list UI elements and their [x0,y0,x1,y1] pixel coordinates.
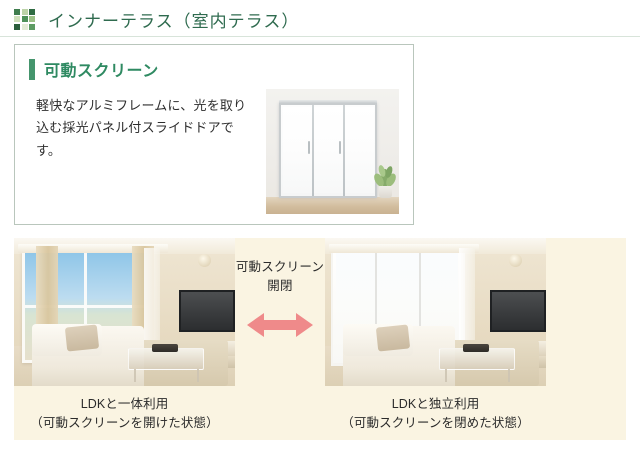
card-heading-text: 可動スクリーン [44,57,159,81]
table-leg-left [445,369,447,382]
curtain-pelmet [329,244,479,253]
table-leg-right [197,369,199,382]
right-caption-line2: （可動スクリーンを閉めた状態） [325,414,546,433]
plant-leaves-icon [374,162,397,188]
sofa-cushion [65,324,99,351]
door-panel-3 [345,107,374,193]
heading-accent-bar [29,59,35,80]
comparison-center: 可動スクリーン 開閉 [235,238,325,386]
ldk-screen-open-photo [14,238,235,386]
door-mullion-1 [312,105,314,196]
table-leg-left [134,369,136,382]
door-handle-2 [339,141,341,154]
header-divider [0,36,640,37]
left-caption-line2: （可動スクリーンを開けた状態） [14,414,235,433]
television [490,290,546,332]
left-caption-line1: LDKと一体利用 [81,397,169,411]
left-caption: LDKと一体利用 （可動スクリーンを開けた状態） [14,395,235,434]
table-tray [152,344,178,352]
wall-light-icon [198,254,211,267]
wall-light-icon [509,254,522,267]
center-label-line2: 開閉 [267,277,292,296]
photo-floor [266,197,399,214]
comparison-right-column: LDKと独立利用 （可動スクリーンを閉めた状態） [325,238,546,434]
door-handle-1 [308,141,310,154]
ldk-screen-closed-photo [325,238,546,386]
table-tray [463,344,489,352]
right-caption-line1: LDKと独立利用 [392,397,480,411]
comparison-left-column: LDKと一体利用 （可動スクリーンを開けた状態） [14,238,235,434]
movable-screen-door-photo [266,89,399,214]
right-caption: LDKと独立利用 （可動スクリーンを閉めた状態） [325,395,546,434]
center-label-line1: 可動スクリーン [236,258,324,277]
door-mullion-2 [343,105,345,196]
plant-pot [379,186,392,198]
table-leg-right [508,369,510,382]
double-headed-arrow-icon [247,310,313,340]
page-header: インナーテラス（室内テラス） [0,0,640,38]
grid-squares-icon [14,9,35,30]
sofa-cushion [376,324,410,351]
television [179,290,235,332]
page-title: インナーテラス（室内テラス） [48,7,299,32]
feature-card: 可動スクリーン 軽快なアルミフレームに、光を取り込む採光パネル付スライドドアです… [14,44,414,225]
card-heading: 可動スクリーン [29,57,159,81]
comparison-panel: LDKと一体利用 （可動スクリーンを開けた状態） 可動スクリーン 開閉 [14,238,626,440]
card-description: 軽快なアルミフレームに、光を取り込む採光パネル付スライドドアです。 [36,95,251,162]
